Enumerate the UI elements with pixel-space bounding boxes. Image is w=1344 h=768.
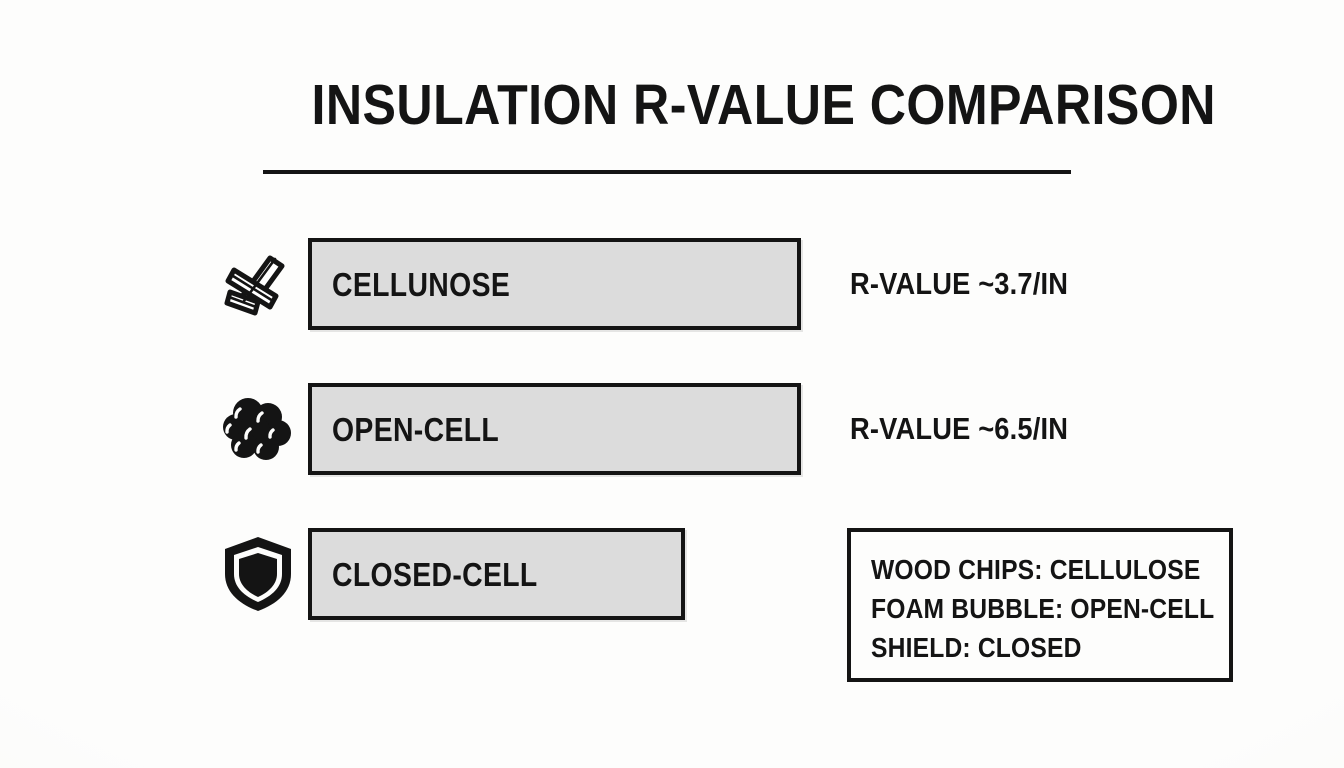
bar-open-cell[interactable]: OPEN-CELL	[308, 383, 801, 475]
bar-label-open-cell: OPEN-CELL	[332, 413, 499, 446]
bar-closed-cell[interactable]: CLOSED-CELL	[308, 528, 685, 620]
page-title: INSULATION R-VALUE COMPARISON	[311, 74, 1022, 136]
rvalue-open-cell: R-VALUE ~6.5/IN	[850, 412, 1098, 446]
foam-bubble-icon	[214, 385, 302, 473]
comparison-row-open-cell: OPEN-CELL R-VALUE ~6.5/IN	[0, 381, 1344, 477]
title-divider	[263, 170, 1071, 174]
legend-box: WOOD CHIPS: CELLULOSE FOAM BUBBLE: OPEN-…	[847, 528, 1233, 682]
shield-icon	[214, 530, 302, 618]
rvalue-cellulose-text: R-VALUE ~3.7/IN	[850, 267, 1068, 301]
comparison-row-cellulose: CELLUNOSE R-VALUE ~3.7/IN	[0, 236, 1344, 332]
bar-cellulose[interactable]: CELLUNOSE	[308, 238, 801, 330]
legend-line-foam-bubble: FOAM BUBBLE: OPEN-CELL	[871, 589, 1186, 628]
wood-chips-icon	[214, 240, 302, 328]
rvalue-cellulose: R-VALUE ~3.7/IN	[850, 267, 1098, 301]
legend-line-shield: SHIELD: CLOSED	[871, 628, 1186, 667]
legend-line-wood-chips: WOOD CHIPS: CELLULOSE	[871, 550, 1186, 589]
infographic-canvas: INSULATION R-VALUE COMPARISON	[0, 0, 1344, 768]
bar-label-cellulose: CELLUNOSE	[332, 268, 510, 301]
bar-label-closed-cell: CLOSED-CELL	[332, 558, 538, 591]
rvalue-open-cell-text: R-VALUE ~6.5/IN	[850, 412, 1068, 446]
